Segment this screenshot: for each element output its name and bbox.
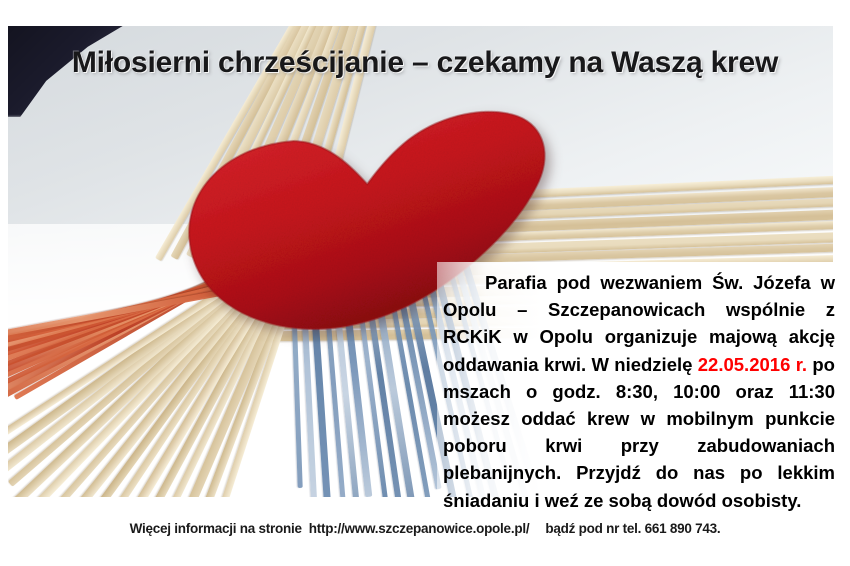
footer-url[interactable]: http://www.szczepanowice.opole.pl/ <box>309 521 530 536</box>
poster-root: Miłosierni chrześcijanie – czekamy na Wa… <box>0 0 850 566</box>
announcement-paragraph: Parafia pod wezwaniem Św. Józefa w Opolu… <box>443 269 835 514</box>
event-date: 22.05.2016 r. <box>698 354 807 375</box>
announcement-text: Parafia pod wezwaniem Św. Józefa w Opolu… <box>443 269 835 514</box>
page-title: Miłosierni chrześcijanie – czekamy na Wa… <box>0 46 850 80</box>
footer-intro: Więcej informacji na stronie <box>130 521 302 536</box>
footer-phone: bądź pod nr tel. 661 890 743. <box>545 521 720 536</box>
footer-contact: Więcej informacji na stronie http://www.… <box>0 521 850 536</box>
text-after-date: po mszach o godz. 8:30, 10:00 oraz 11:30… <box>443 354 835 511</box>
